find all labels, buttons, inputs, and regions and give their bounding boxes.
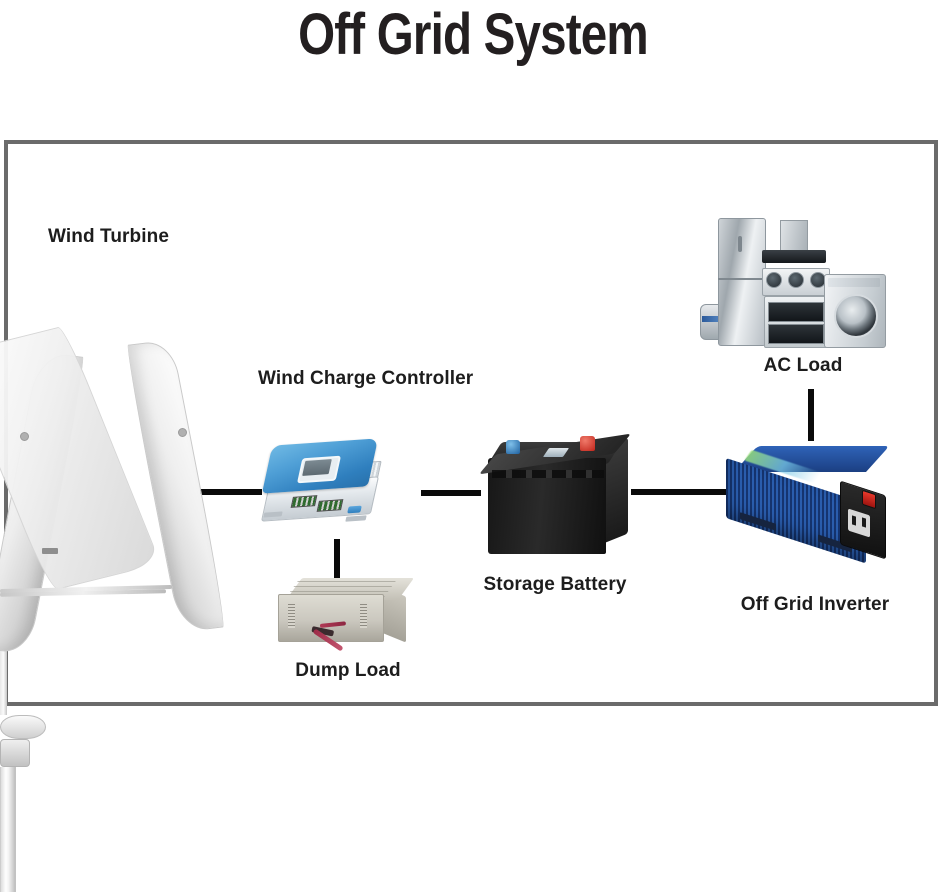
turbine-generator-housing bbox=[0, 739, 30, 767]
label-wind-charge-controller: Wind Charge Controller bbox=[258, 368, 518, 390]
dump-load-image bbox=[276, 578, 416, 656]
appliance-refrigerator bbox=[718, 218, 766, 346]
wind-turbine-image bbox=[0, 330, 210, 690]
connector-battery-to-inverter bbox=[631, 489, 731, 495]
appliance-range-hood bbox=[762, 250, 826, 263]
washing-machine-door bbox=[834, 294, 878, 338]
turbine-bolt-left bbox=[20, 432, 29, 441]
inverter-outlet-slot-right bbox=[862, 517, 866, 527]
label-dump-load: Dump Load bbox=[248, 660, 448, 682]
label-storage-battery: Storage Battery bbox=[455, 574, 655, 596]
oven-door-upper bbox=[768, 302, 824, 322]
ac-load-image bbox=[700, 212, 906, 352]
dump-load-vent-left bbox=[288, 604, 295, 628]
controller-display-screen bbox=[302, 459, 332, 476]
label-off-grid-inverter: Off Grid Inverter bbox=[715, 594, 915, 616]
controller-terminal-block-right bbox=[317, 499, 344, 512]
connector-controller-to-battery bbox=[421, 490, 481, 496]
battery-cell-ridge bbox=[492, 470, 604, 478]
cooktop-burner-center bbox=[788, 272, 804, 288]
battery-terminal-negative bbox=[506, 440, 520, 454]
controller-mount-foot-right bbox=[345, 515, 366, 521]
appliance-refrigerator-handle bbox=[738, 236, 742, 252]
label-wind-turbine: Wind Turbine bbox=[48, 226, 248, 248]
cooktop-burner-left bbox=[766, 272, 782, 288]
inverter-outlet-slot-left bbox=[852, 515, 856, 525]
dump-load-vent-right bbox=[360, 604, 367, 628]
off-grid-inverter-image bbox=[722, 440, 902, 560]
appliance-refrigerator-door-split bbox=[718, 278, 764, 280]
washing-machine-control-panel bbox=[828, 278, 880, 287]
label-ac-load: AC Load bbox=[703, 355, 903, 377]
controller-terminal-block-left bbox=[291, 495, 318, 508]
appliance-range-hood-chimney bbox=[780, 220, 808, 254]
turbine-hub bbox=[0, 715, 46, 739]
turbine-mast bbox=[0, 767, 16, 892]
oven-door-lower bbox=[768, 324, 824, 344]
page-title: Off Grid System bbox=[85, 2, 861, 68]
connector-inverter-to-ac-load bbox=[808, 389, 814, 441]
wind-charge-controller-image bbox=[262, 440, 384, 540]
connector-controller-to-dump-load bbox=[334, 539, 340, 579]
storage-battery-image bbox=[484, 432, 632, 560]
turbine-bolt-right bbox=[178, 428, 187, 437]
battery-terminal-positive bbox=[580, 436, 595, 451]
turbine-nameplate bbox=[42, 548, 58, 554]
